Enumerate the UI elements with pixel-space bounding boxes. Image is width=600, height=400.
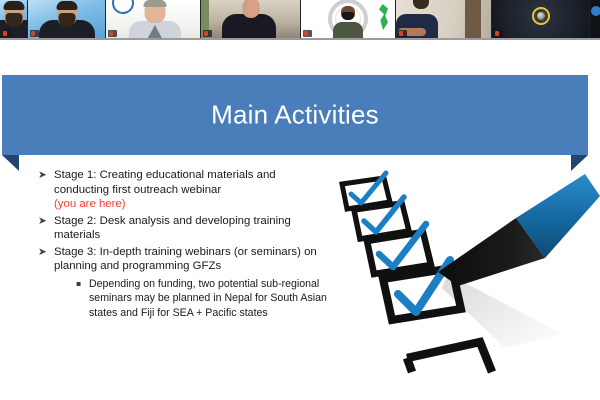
- slide-bullet-list: ➤ Stage 1: Creating educational material…: [38, 168, 328, 320]
- sub-list-item: ▪ Depending on funding, two potential su…: [76, 277, 328, 321]
- video-tile[interactable]: [0, 0, 28, 38]
- pen-icon: [438, 174, 600, 286]
- participant-nameplate: [398, 30, 407, 37]
- list-item: ➤ Stage 2: Desk analysis and developing …: [38, 214, 328, 243]
- list-item: ➤ Stage 3: In-depth training webinars (o…: [38, 245, 328, 274]
- mic-muted-icon: [304, 31, 308, 36]
- video-tile[interactable]: [201, 0, 301, 38]
- list-item: ➤ Stage 1: Creating educational material…: [38, 168, 328, 212]
- square-bullet-icon: ▪: [76, 277, 89, 292]
- slide-title-banner: Main Activities: [0, 75, 600, 157]
- checkbox-edge: [407, 358, 412, 372]
- arrow-bullet-icon: ➤: [38, 168, 54, 183]
- list-item-text: Stage 3: In-depth training webinars (or …: [54, 245, 328, 274]
- participant-video-strip[interactable]: [0, 0, 600, 40]
- ribbon-fold-left: [2, 155, 19, 171]
- mic-muted-icon: [109, 31, 113, 36]
- screen-share-view: Main Activities ➤ Stage 1: Creating educ…: [0, 0, 600, 400]
- avatar: [591, 6, 600, 16]
- list-item-body: Stage 1: Creating educational materials …: [54, 169, 276, 196]
- mic-muted-icon: [31, 31, 35, 36]
- yellow-emblem-icon: [532, 7, 550, 25]
- video-tile[interactable]: [301, 0, 396, 38]
- checkbox-item-5: [407, 342, 492, 372]
- participant-nameplate: [2, 30, 11, 37]
- room-door: [465, 0, 481, 38]
- arrow-bullet-icon: ➤: [38, 245, 54, 260]
- page-title: Main Activities: [2, 100, 588, 131]
- list-item-text: Stage 1: Creating educational materials …: [54, 168, 328, 212]
- sub-list-item-text: Depending on funding, two potential sub-…: [89, 277, 328, 321]
- participant-nameplate: [30, 30, 39, 37]
- shared-slide: Main Activities ➤ Stage 1: Creating educ…: [0, 40, 600, 400]
- participant-nameplate: [303, 30, 312, 37]
- participant-body: [333, 22, 363, 38]
- video-tile[interactable]: [106, 0, 201, 38]
- face-mask-icon: [342, 12, 354, 20]
- video-tile[interactable]: [28, 0, 106, 38]
- participant-hand: [247, 0, 258, 16]
- check-mark-icon: [351, 173, 386, 203]
- mic-muted-icon: [204, 31, 208, 36]
- checkbox-outline: [407, 342, 492, 372]
- participant-hair: [143, 0, 166, 7]
- mic-muted-icon: [495, 31, 499, 36]
- participant-hair: [3, 1, 24, 10]
- you-are-here-note: (you are here): [54, 197, 328, 212]
- arrow-bullet-icon: ➤: [38, 214, 54, 229]
- participant-hair: [56, 1, 77, 10]
- video-tile[interactable]: [590, 0, 600, 38]
- mic-muted-icon: [3, 31, 7, 36]
- video-tile[interactable]: [492, 0, 590, 38]
- banner-bar: Main Activities: [2, 75, 588, 155]
- checklist-illustration: [330, 166, 600, 400]
- mic-muted-icon: [399, 31, 403, 36]
- participant-nameplate: [108, 30, 117, 37]
- participant-nameplate: [494, 30, 503, 37]
- checklist-with-pen-image: [330, 166, 600, 400]
- list-item-text: Stage 2: Desk analysis and developing tr…: [54, 214, 328, 243]
- video-tile[interactable]: [396, 0, 492, 38]
- participant-nameplate: [203, 30, 212, 37]
